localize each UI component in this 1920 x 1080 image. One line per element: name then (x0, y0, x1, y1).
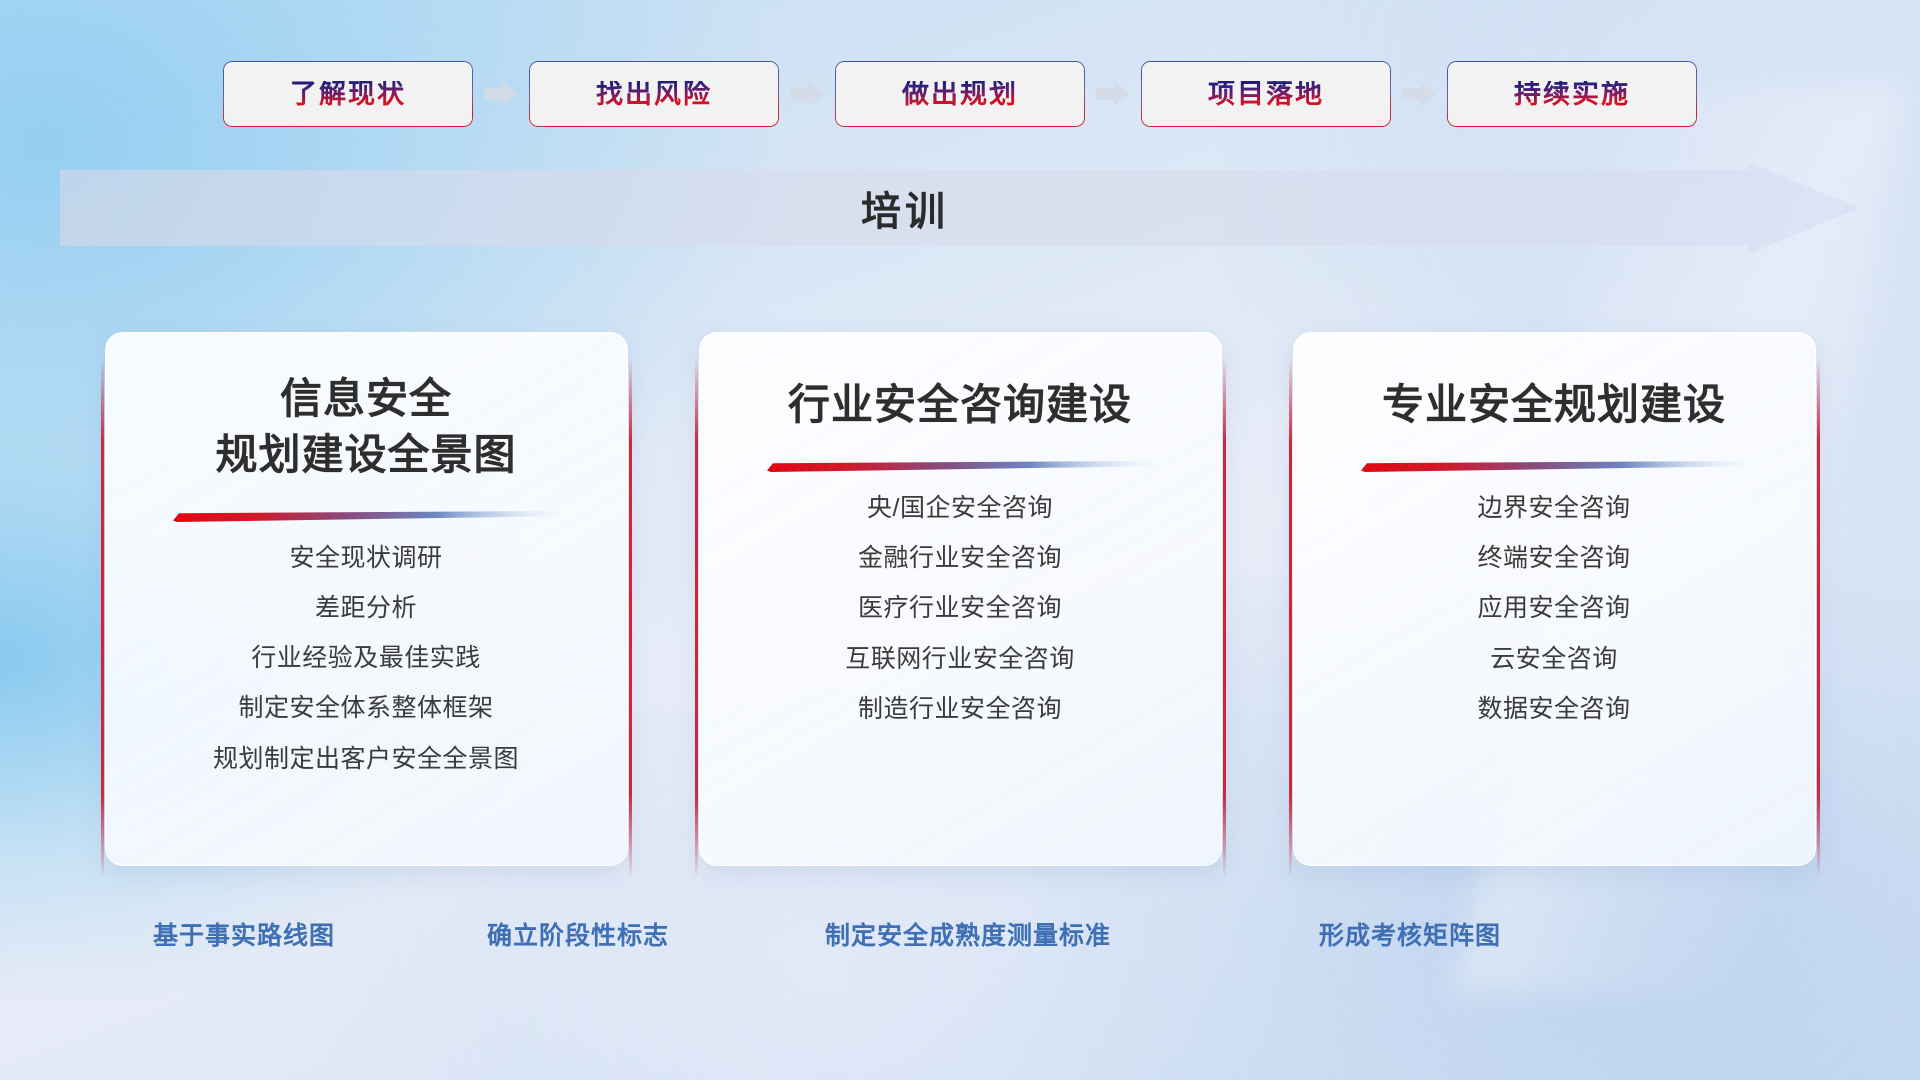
footer-label-1: 基于事实路线图 (153, 916, 335, 952)
card-list-item: 云安全咨询 (1490, 641, 1618, 677)
card-item-list: 央/国企安全咨询金融行业安全咨询医疗行业安全咨询互联网行业安全咨询制造行业安全咨… (700, 490, 1221, 727)
card-list-item: 央/国企安全咨询 (867, 490, 1053, 526)
card-list-item: 互联网行业安全咨询 (845, 641, 1075, 677)
card-divider (1361, 461, 1747, 472)
step-arrow-right-icon (790, 79, 824, 109)
card-list-item: 医疗行业安全咨询 (858, 590, 1062, 626)
process-step-label: 找出风险 (596, 81, 712, 108)
footer-label-row: 基于事实路线图确立阶段性标志制定安全成熟度测量标准形成考核矩阵图 (0, 916, 1920, 962)
card-list-item: 制造行业安全咨询 (858, 691, 1062, 727)
card-title: 行业安全咨询建设 (788, 377, 1132, 433)
card-item-list: 安全现状调研差距分析行业经验及最佳实践制定安全体系整体框架规划制定出客户安全全景… (106, 540, 627, 777)
process-step-5[interactable]: 持续实施 (1447, 61, 1697, 127)
card-list-item: 边界安全咨询 (1477, 490, 1630, 526)
card-list-item: 制定安全体系整体框架 (238, 690, 493, 726)
card-accent-line-left (1289, 358, 1292, 878)
service-card-3[interactable]: 专业安全规划建设边界安全咨询终端安全咨询应用安全咨询云安全咨询数据安全咨询 (1289, 332, 1820, 878)
card-list-item: 行业经验及最佳实践 (251, 640, 481, 676)
card-body: 专业安全规划建设边界安全咨询终端安全咨询应用安全咨询云安全咨询数据安全咨询 (1293, 332, 1816, 866)
process-step-inner: 做出规划 (836, 62, 1084, 126)
process-step-1[interactable]: 了解现状 (223, 61, 473, 127)
process-step-inner: 了解现状 (224, 62, 472, 126)
footer-label-2: 确立阶段性标志 (487, 916, 669, 952)
training-banner-label: 培训 (60, 162, 1750, 254)
card-accent-line-right (1817, 358, 1820, 878)
card-accent-line-right (629, 358, 632, 878)
process-step-3[interactable]: 做出规划 (835, 61, 1085, 127)
footer-label-3: 制定安全成熟度测量标准 (825, 916, 1111, 952)
service-card-1[interactable]: 信息安全 规划建设全景图安全现状调研差距分析行业经验及最佳实践制定安全体系整体框… (101, 332, 632, 878)
card-body: 信息安全 规划建设全景图安全现状调研差距分析行业经验及最佳实践制定安全体系整体框… (105, 332, 628, 866)
card-list-item: 终端安全咨询 (1477, 540, 1630, 576)
card-title: 信息安全 规划建设全景图 (215, 371, 516, 483)
card-title: 专业安全规划建设 (1382, 377, 1726, 433)
card-divider (173, 511, 559, 522)
training-banner: 培训 (60, 162, 1860, 254)
process-step-label: 项目落地 (1208, 81, 1324, 108)
card-list-item: 安全现状调研 (289, 540, 442, 576)
process-step-inner: 持续实施 (1448, 62, 1696, 126)
step-arrow-right-icon (484, 79, 518, 109)
process-step-inner: 找出风险 (530, 62, 778, 126)
card-list-item: 金融行业安全咨询 (858, 540, 1062, 576)
card-accent-line-left (695, 358, 698, 878)
card-body: 行业安全咨询建设央/国企安全咨询金融行业安全咨询医疗行业安全咨询互联网行业安全咨… (699, 332, 1222, 866)
card-accent-line-right (1223, 358, 1226, 878)
card-list-item: 应用安全咨询 (1477, 590, 1630, 626)
service-card-2[interactable]: 行业安全咨询建设央/国企安全咨询金融行业安全咨询医疗行业安全咨询互联网行业安全咨… (695, 332, 1226, 878)
card-list-item: 数据安全咨询 (1477, 691, 1630, 727)
card-item-list: 边界安全咨询终端安全咨询应用安全咨询云安全咨询数据安全咨询 (1294, 490, 1815, 727)
process-step-4[interactable]: 项目落地 (1141, 61, 1391, 127)
process-step-label: 了解现状 (290, 81, 406, 108)
process-step-label: 做出规划 (902, 81, 1018, 108)
card-accent-line-left (101, 358, 104, 878)
process-step-row: 了解现状找出风险做出规划项目落地持续实施 (0, 62, 1920, 126)
card-divider (767, 461, 1153, 472)
card-list-item: 差距分析 (315, 590, 417, 626)
process-step-inner: 项目落地 (1142, 62, 1390, 126)
card-row: 信息安全 规划建设全景图安全现状调研差距分析行业经验及最佳实践制定安全体系整体框… (0, 332, 1920, 878)
footer-label-4: 形成考核矩阵图 (1319, 916, 1501, 952)
step-arrow-right-icon (1402, 79, 1436, 109)
process-step-label: 持续实施 (1514, 81, 1630, 108)
card-list-item: 规划制定出客户安全全景图 (213, 741, 519, 777)
step-arrow-right-icon (1096, 79, 1130, 109)
process-step-2[interactable]: 找出风险 (529, 61, 779, 127)
